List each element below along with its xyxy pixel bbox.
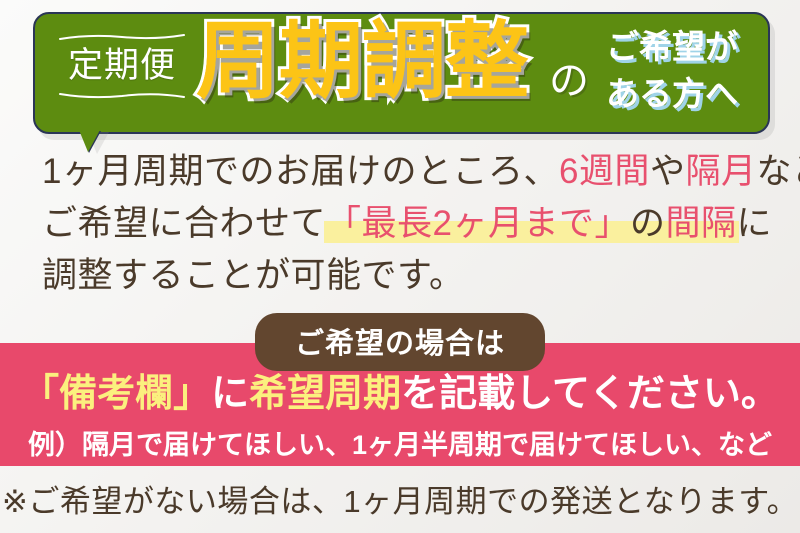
header-section: 定期便 周期調整 周期調整 の ご希望が ある方へ (0, 0, 800, 145)
body-line-2: ご希望に合わせて「最長2ヶ月まで」の間隔に (0, 198, 800, 250)
body-line1-mid: や (650, 152, 686, 191)
subscription-label: 定期便 (52, 45, 192, 88)
body-line1-post: など (756, 152, 800, 191)
request-case-badge: ご希望の場合は (255, 313, 545, 371)
remarks-field-label: 「備考欄」 (21, 373, 211, 415)
header-subtitle-line2: ある方へ (606, 71, 766, 118)
header-particle: の (549, 48, 589, 106)
body-line1-emphasis-1: 6週間 (559, 152, 650, 191)
header-main-title: 周期調整 (196, 14, 528, 108)
body-line1-pre: 1ヶ月周期でのお届けのところ、 (42, 152, 559, 191)
wave-divider-top-icon (58, 33, 186, 42)
wave-divider-bottom-icon (58, 91, 186, 100)
subscription-label-block: 定期便 (52, 30, 192, 103)
body-line2-highlight-quote: 「最長2ヶ月まで」 (326, 204, 630, 243)
header-subtitle-line1: ご希望が (606, 24, 766, 71)
desired-cycle-label: 希望周期 (249, 373, 401, 415)
body-copy-section: 1ヶ月周期でのお届けのところ、6週間や隔月など ご希望に合わせて「最長2ヶ月まで… (0, 146, 800, 302)
body-line2-highlight-interval: 間隔 (666, 204, 737, 243)
body-line2-pre: ご希望に合わせて (42, 204, 326, 243)
pink-band-example-line: 例）隔月で届けてほしい、1ヶ月半周期で届けてほしい、など (0, 423, 800, 462)
pink-band-instruction: を記載してください。 (401, 373, 779, 415)
body-line1-emphasis-2: 隔月 (685, 152, 756, 191)
body-line2-post: に (737, 204, 773, 243)
body-line-1: 1ヶ月周期でのお届けのところ、6週間や隔月など (0, 146, 800, 198)
body-line2-highlight: 「最長2ヶ月まで」の間隔 (326, 198, 737, 250)
footnote-text: ※ご希望がない場合は、1ヶ月周期での発送となります。 (0, 476, 800, 521)
pink-band-particle-1: に (211, 373, 249, 415)
body-line2-highlight-particle: の (630, 204, 666, 243)
header-subtitle: ご希望が ある方へ (606, 24, 766, 118)
body-line-3: 調整することが可能です。 (0, 250, 800, 302)
